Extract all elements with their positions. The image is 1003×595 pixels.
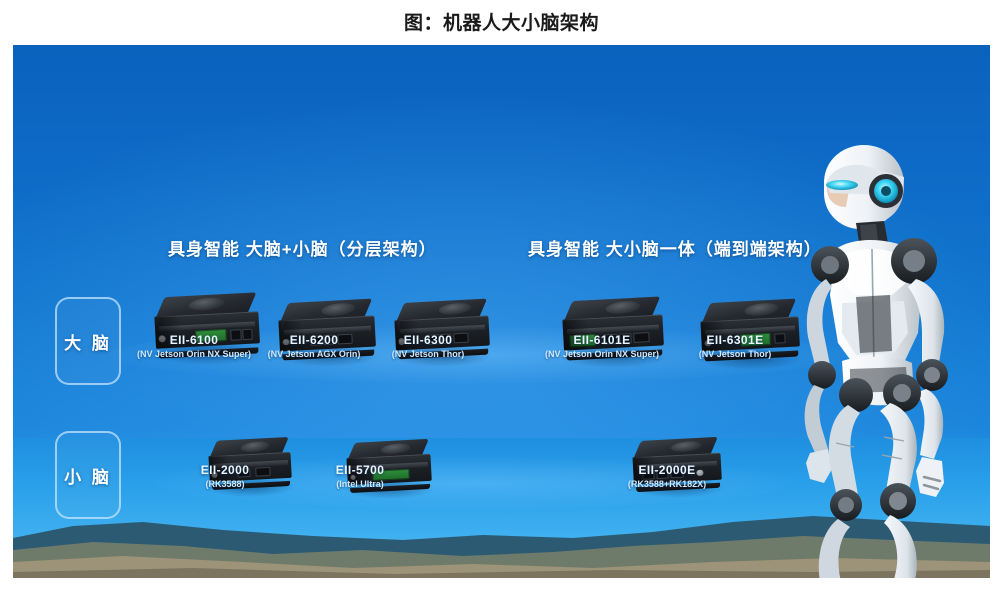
device-label-eii-6300: EII-6300 (NV Jetson Thor): [392, 333, 465, 359]
device-label-eii-2000: EII-2000 (RK3588): [201, 463, 250, 489]
category-badge-brain: 大 脑: [55, 297, 121, 385]
section-heading-layered: 具身智能 大脑+小脑（分层架构）: [168, 235, 437, 260]
device-label-eii-5700: EII-5700 (Intel Ultra): [336, 463, 385, 489]
humanoid-robot-image: [764, 137, 990, 578]
device-label-eii-2000e: EII-2000E (RK3588+RK182X): [628, 463, 706, 489]
device-label-eii-6101e: EII-6101E (NV Jetson Orin NX Super): [545, 333, 659, 359]
figure-panel: 具身智能 大脑+小脑（分层架构） 具身智能 大小脑一体（端到端架构） 大 脑 小…: [13, 45, 990, 578]
device-label-eii-6100: EII-6100 (NV Jetson Orin NX Super): [137, 333, 251, 359]
device-label-eii-6301e: EII-6301E (NV Jetson Thor): [699, 333, 772, 359]
page-title: 图：机器人大小脑架构: [0, 4, 1003, 38]
category-badge-cerebellum: 小 脑: [55, 431, 121, 519]
device-label-eii-6200: EII-6200 (NV Jetson AGX Orin): [268, 333, 361, 359]
